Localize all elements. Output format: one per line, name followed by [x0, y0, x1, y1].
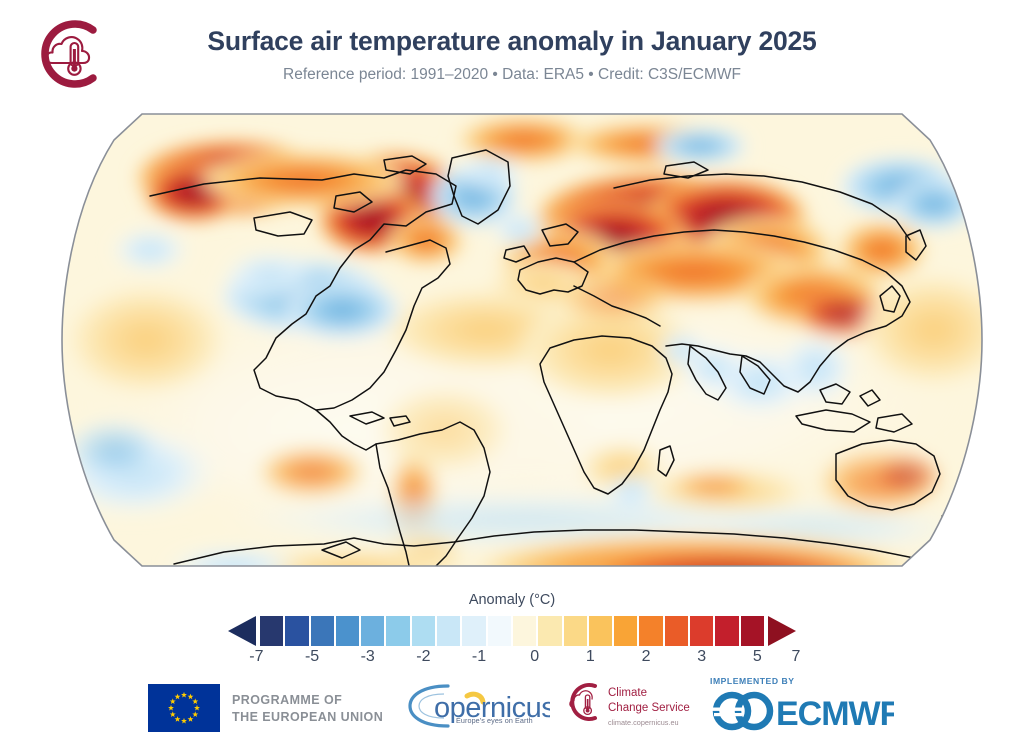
ccs-line-1: Climate — [608, 686, 694, 701]
ecmwf-wordmark: ECMWF — [708, 690, 894, 732]
colorbar-cells — [260, 616, 764, 646]
eu-stars — [148, 684, 220, 732]
ecmwf-circles-icon — [712, 695, 770, 727]
eu-programme-text: PROGRAMME OF THE EUROPEAN UNION — [232, 692, 392, 726]
colorbar-scale — [228, 616, 796, 646]
eu-star-11 — [175, 694, 181, 700]
eu-star-1 — [188, 694, 194, 700]
colorbar-cell-15 — [639, 616, 662, 646]
eu-star-0 — [181, 692, 187, 698]
eu-star-4 — [192, 711, 198, 717]
ccs-name: Climate Change Service — [608, 686, 694, 716]
european-union-flag — [148, 684, 220, 732]
ecmwf-implemented-by: IMPLEMENTED BY — [710, 676, 795, 686]
colorbar-cell-7 — [437, 616, 460, 646]
colorbar-cell-13 — [589, 616, 612, 646]
eu-star-10 — [170, 698, 176, 704]
header: Surface air temperature anomaly in Janua… — [0, 0, 1024, 100]
copernicus-logo: opernicus Europe's eyes on Earth — [404, 680, 550, 732]
colorbar-tick-9: 5 — [737, 648, 777, 666]
eu-star-9 — [168, 705, 174, 711]
colorbar-cell-5 — [386, 616, 409, 646]
colorbar-low-arrow — [228, 616, 258, 646]
eu-star-3 — [194, 705, 200, 711]
map-canvas — [54, 100, 990, 580]
colorbar-tick-3: -2 — [403, 648, 443, 666]
colorbar-cell-0 — [260, 616, 283, 646]
colorbar-cell-1 — [285, 616, 308, 646]
eu-star-5 — [188, 716, 194, 722]
world-anomaly-map — [54, 100, 990, 580]
eu-line-1: PROGRAMME OF — [232, 692, 392, 709]
ccs-line-2: Change Service — [608, 701, 694, 716]
colorbar-high-arrow — [766, 616, 796, 646]
page-title: Surface air temperature anomaly in Janua… — [0, 26, 1024, 57]
eu-star-8 — [170, 711, 176, 717]
eu-star-6 — [181, 718, 187, 724]
ccs-url: climate.copernicus.eu — [608, 718, 700, 727]
colorbar-cell-9 — [488, 616, 511, 646]
climate-change-service-logo: Climate Change Service climate.copernicu… — [560, 678, 690, 734]
colorbar-cell-14 — [614, 616, 637, 646]
eu-star-2 — [192, 698, 198, 704]
colorbar-cell-12 — [564, 616, 587, 646]
colorbar-cell-18 — [715, 616, 738, 646]
high-cap-shape — [768, 616, 796, 646]
colorbar-cell-2 — [311, 616, 334, 646]
footer-logos: PROGRAMME OF THE EUROPEAN UNION opernicu… — [0, 672, 1024, 742]
copernicus-tagline: Europe's eyes on Earth — [456, 716, 552, 725]
colorbar-tick-6: 1 — [570, 648, 610, 666]
svg-text:ECMWF: ECMWF — [776, 695, 894, 732]
colorbar-tick-labels: -7-5-3-2-1012357 — [228, 648, 796, 670]
colorbar-title: Anomaly (°C) — [0, 592, 1024, 608]
colorbar-tick-8: 3 — [682, 648, 722, 666]
colorbar-cell-4 — [361, 616, 384, 646]
colorbar-tick-10: 7 — [776, 648, 816, 666]
colorbar-cell-6 — [412, 616, 435, 646]
colorbar-cell-3 — [336, 616, 359, 646]
colorbar-cell-19 — [741, 616, 764, 646]
colorbar-tick-1: -5 — [292, 648, 332, 666]
colorbar-cell-8 — [462, 616, 485, 646]
eu-programme-logo: PROGRAMME OF THE EUROPEAN UNION — [148, 682, 388, 730]
colorbar-cell-16 — [665, 616, 688, 646]
colorbar-tick-4: -1 — [459, 648, 499, 666]
ccs-mark — [560, 678, 604, 726]
colorbar-cell-10 — [513, 616, 536, 646]
eu-line-2: THE EUROPEAN UNION — [232, 709, 392, 726]
colorbar-tick-7: 2 — [626, 648, 666, 666]
colorbar-tick-5: 0 — [515, 648, 555, 666]
page-subtitle: Reference period: 1991–2020 • Data: ERA5… — [0, 66, 1024, 84]
ecmwf-logo: IMPLEMENTED BY ECMWF — [700, 676, 900, 734]
colorbar-tick-0: -7 — [236, 648, 276, 666]
colorbar-tick-2: -3 — [348, 648, 388, 666]
colorbar-cell-17 — [690, 616, 713, 646]
colorbar: Anomaly (°C) -7-5-3-2-1012357 — [0, 592, 1024, 672]
eu-star-7 — [175, 716, 181, 722]
colorbar-cell-11 — [538, 616, 561, 646]
low-cap-shape — [228, 616, 256, 646]
